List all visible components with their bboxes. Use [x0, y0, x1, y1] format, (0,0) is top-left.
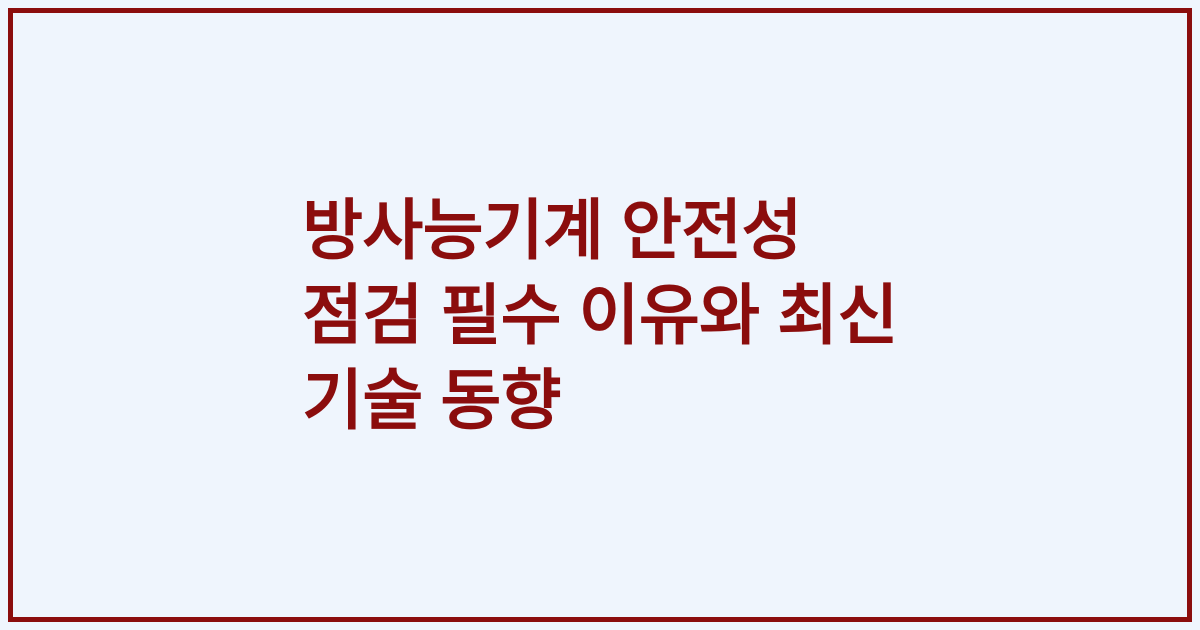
page-title: 방사능기계 안전성 점검 필수 이유와 최신 기술 동향	[302, 188, 898, 443]
headline-block: 방사능기계 안전성 점검 필수 이유와 최신 기술 동향	[262, 188, 938, 443]
thumbnail-card: 방사능기계 안전성 점검 필수 이유와 최신 기술 동향	[0, 0, 1200, 630]
